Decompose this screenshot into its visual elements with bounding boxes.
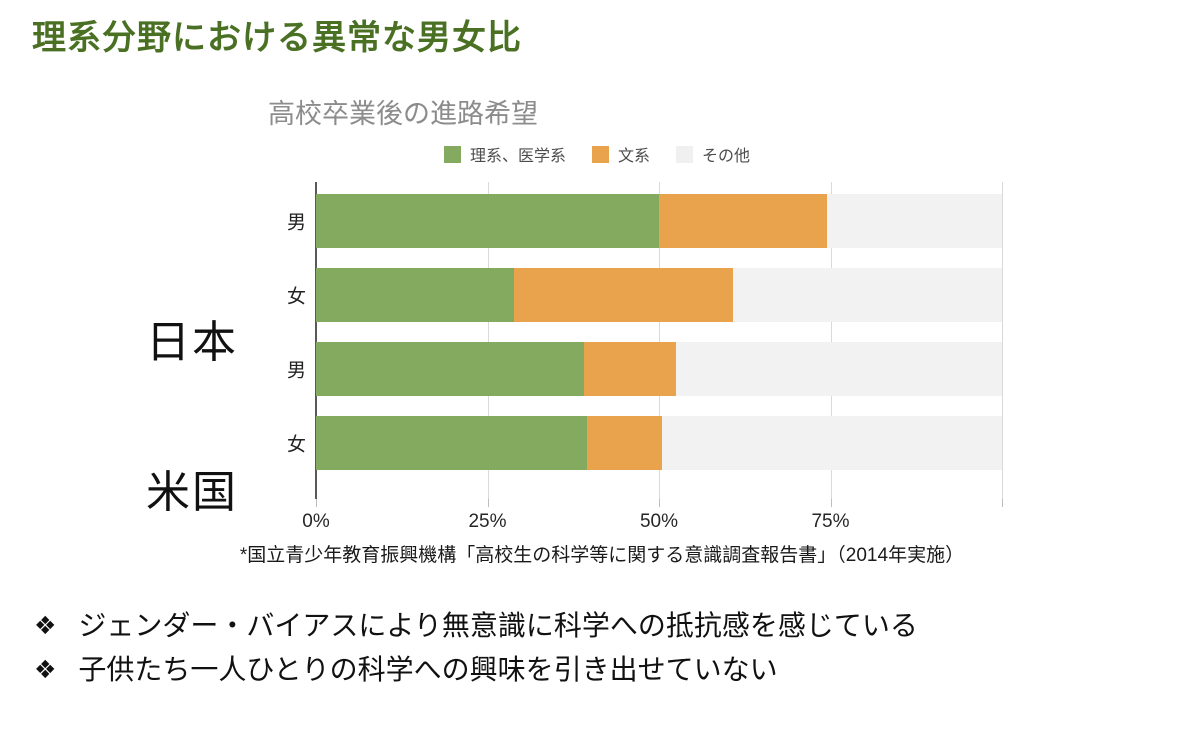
legend-label-other: その他 [702, 142, 750, 166]
legend-item-humanities: 文系 [592, 142, 650, 166]
x-tick-label: 50% [640, 511, 678, 533]
legend-swatch-science [444, 146, 461, 163]
x-tick-mark [831, 499, 832, 507]
x-tick-label: 75% [811, 511, 849, 533]
legend-swatch-other [676, 146, 693, 163]
plot-area: 男女男女 [316, 182, 1002, 499]
bar-segment-humanities [584, 342, 677, 396]
x-tick-label: 25% [468, 511, 506, 533]
country-label-japan: 日本 [146, 306, 238, 370]
stacked-bar [316, 342, 1002, 396]
bar-row: 男 [316, 342, 1002, 396]
bar-row: 女 [316, 416, 1002, 470]
bullet-text: ジェンダー・バイアスにより無意識に科学への抵抗感を感じている [78, 608, 917, 644]
bar-segment-other [676, 342, 1002, 396]
chart-footnote: *国立青少年教育振興機構「高校生の科学等に関する意識調査報告書」（2014年実施… [0, 540, 1204, 567]
chart-container: 高校卒業後の進路希望 理系、医学系 文系 その他 日本 米国 男女男女 0%25… [0, 84, 1204, 564]
x-tick-label: 0% [302, 511, 329, 533]
page-title: 理系分野における異常な男女比 [32, 10, 522, 59]
x-tick-mark [316, 499, 317, 507]
gridline-100 [1002, 182, 1003, 499]
legend-item-science: 理系、医学系 [444, 142, 566, 166]
chart-legend: 理系、医学系 文系 その他 [444, 142, 750, 166]
bar-segment-science [316, 342, 584, 396]
legend-label-humanities: 文系 [618, 142, 650, 166]
diamond-bullet-icon: ❖ [34, 608, 56, 644]
diamond-bullet-icon: ❖ [34, 652, 56, 688]
x-tick-mark [488, 499, 489, 507]
stacked-bar [316, 268, 1002, 322]
bar-segment-science [316, 416, 587, 470]
bar-row: 女 [316, 268, 1002, 322]
list-item: ❖ジェンダー・バイアスにより無意識に科学への抵抗感を感じている [34, 608, 1184, 644]
legend-item-other: その他 [676, 142, 750, 166]
gender-tick-label: 女 [287, 430, 306, 457]
legend-swatch-humanities [592, 146, 609, 163]
gender-tick-label: 女 [287, 282, 306, 309]
bar-segment-other [827, 194, 1002, 248]
legend-label-science: 理系、医学系 [470, 142, 566, 166]
x-axis: 0%25%50%75% [316, 499, 1002, 539]
bar-segment-other [733, 268, 1002, 322]
stacked-bar [316, 416, 1002, 470]
country-label-usa: 米国 [146, 456, 238, 520]
gender-tick-label: 男 [287, 356, 306, 383]
list-item: ❖子供たち一人ひとりの科学への興味を引き出せていない [34, 652, 1184, 688]
bar-segment-humanities [659, 194, 827, 248]
gender-tick-label: 男 [287, 208, 306, 235]
bar-segment-other [662, 416, 1002, 470]
bullet-text: 子供たち一人ひとりの科学への興味を引き出せていない [78, 652, 777, 688]
bar-segment-humanities [514, 268, 734, 322]
bar-segment-science [316, 268, 514, 322]
bullet-list: ❖ジェンダー・バイアスにより無意識に科学への抵抗感を感じている❖子供たち一人ひと… [34, 608, 1184, 696]
chart-title: 高校卒業後の進路希望 [268, 92, 538, 131]
bar-segment-science [316, 194, 659, 248]
x-tick-mark-end [1002, 499, 1003, 507]
stacked-bar [316, 194, 1002, 248]
bar-row: 男 [316, 194, 1002, 248]
x-tick-mark [659, 499, 660, 507]
bar-segment-humanities [587, 416, 662, 470]
